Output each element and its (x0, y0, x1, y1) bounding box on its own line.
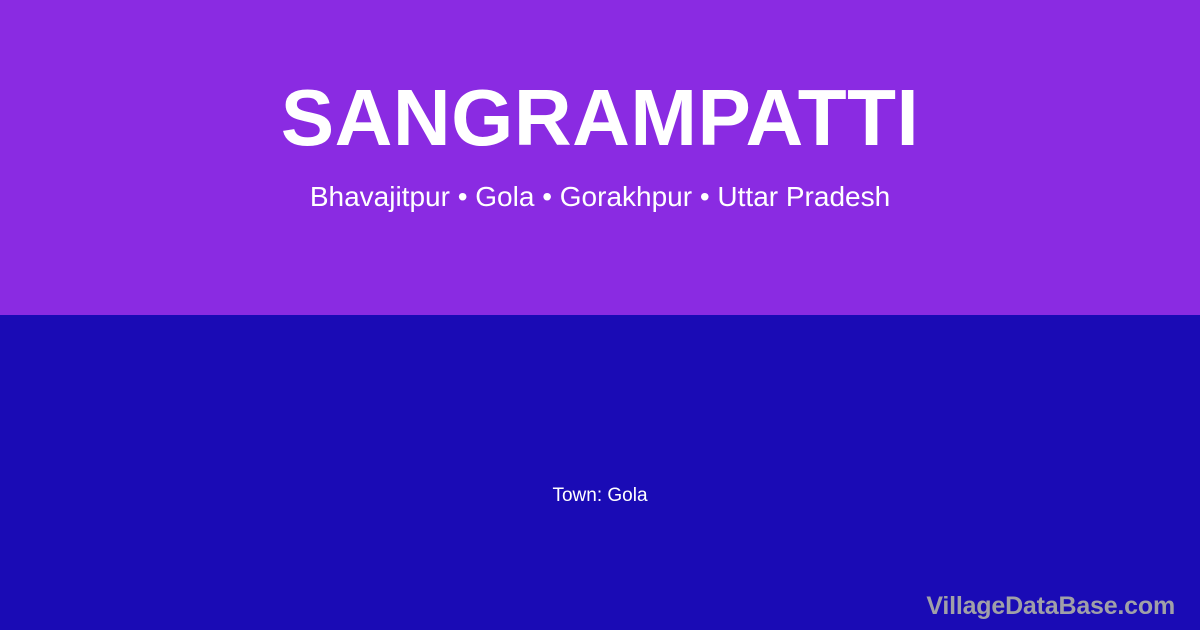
town-detail: Town: Gola (0, 485, 1200, 508)
header-banner: SANGRAMPATTI Bhavajitpur • Gola • Gorakh… (0, 0, 1200, 315)
village-info-card: SANGRAMPATTI Bhavajitpur • Gola • Gorakh… (0, 0, 1200, 630)
body-panel: Town: Gola VillageDataBase.com (0, 315, 1200, 630)
page-title: SANGRAMPATTI (0, 78, 1200, 158)
breadcrumb: Bhavajitpur • Gola • Gorakhpur • Uttar P… (0, 182, 1200, 213)
site-watermark: VillageDataBase.com (926, 593, 1175, 621)
